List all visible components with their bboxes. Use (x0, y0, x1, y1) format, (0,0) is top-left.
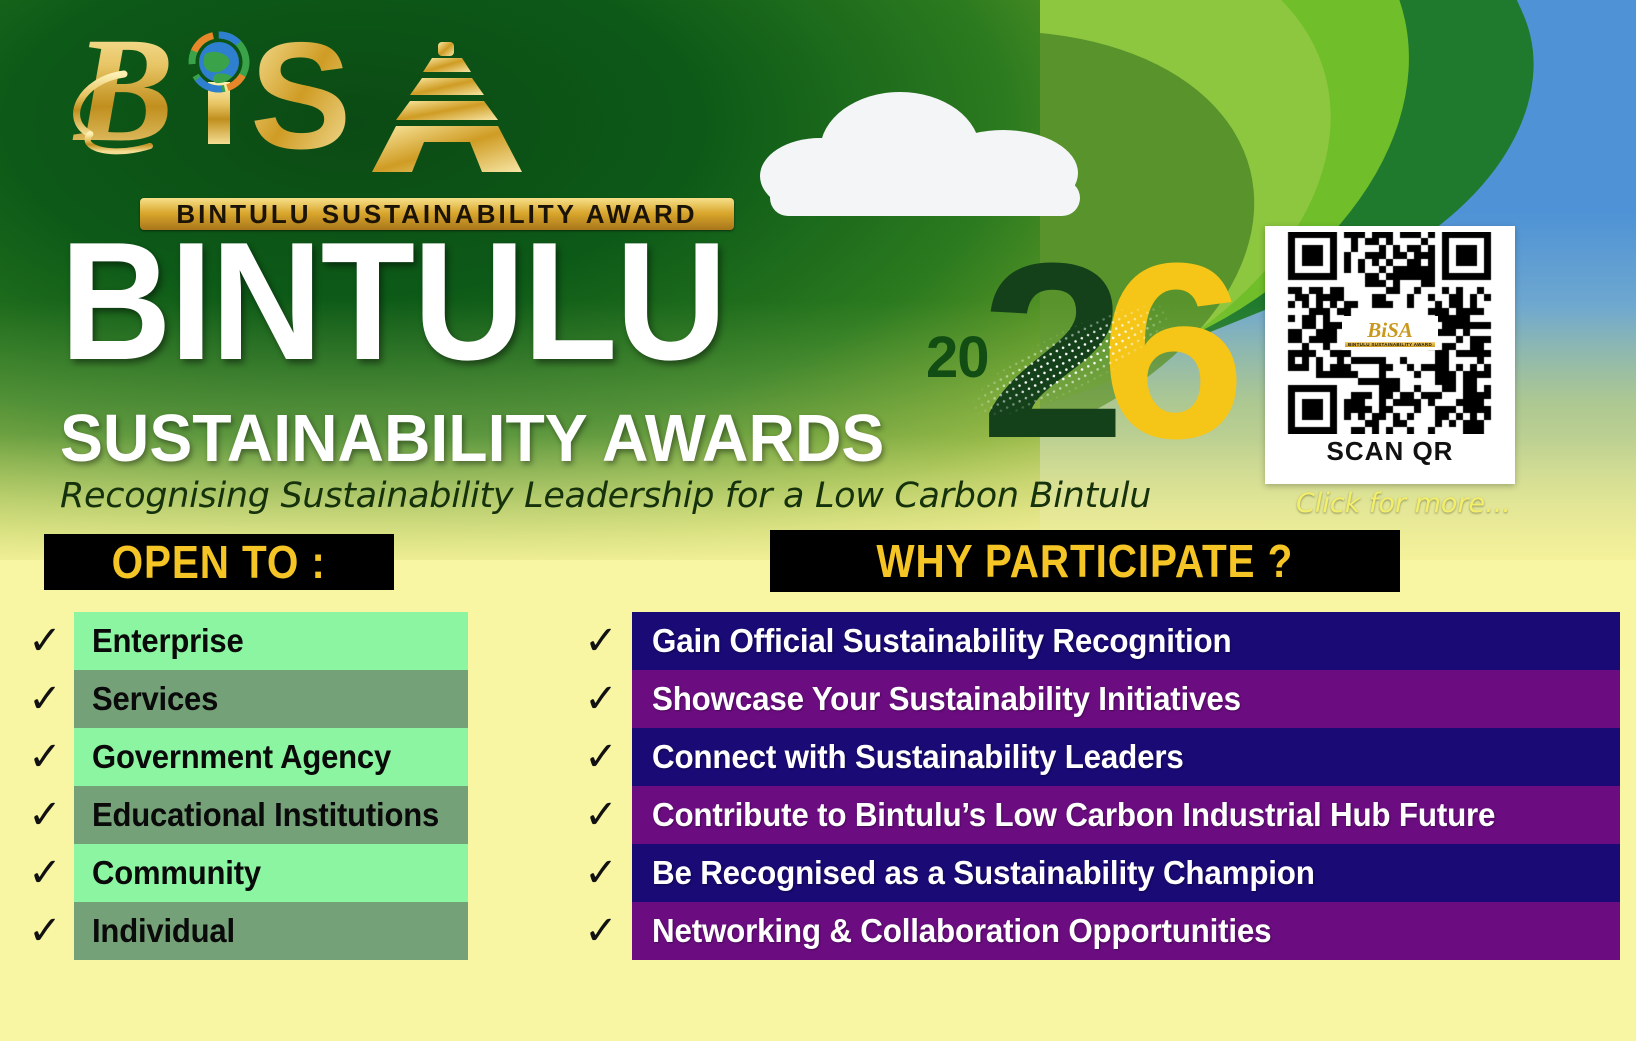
why-participate-list: ✓Gain Official Sustainability Recognitio… (570, 612, 1620, 960)
bisa-logo[interactable]: B S (72, 22, 672, 212)
why-participate-item: Networking & Collaboration Opportunities (632, 902, 1620, 960)
check-icon: ✓ (16, 670, 74, 728)
open-to-row: ✓Educational Institutions (16, 786, 468, 844)
open-to-item: Educational Institutions (74, 786, 468, 844)
open-to-item: Services (74, 670, 468, 728)
open-to-banner: OPEN TO : (44, 534, 394, 590)
why-participate-row: ✓Showcase Your Sustainability Initiative… (570, 670, 1620, 728)
why-participate-item-label: Gain Official Sustainability Recognition (652, 622, 1231, 660)
why-participate-item-label: Showcase Your Sustainability Initiatives (652, 680, 1241, 718)
open-to-item: Community (74, 844, 468, 902)
open-to-row: ✓Government Agency (16, 728, 468, 786)
open-to-item: Enterprise (74, 612, 468, 670)
open-to-row: ✓Community (16, 844, 468, 902)
check-icon: ✓ (16, 728, 74, 786)
page-title: BINTULU (60, 228, 725, 376)
qr-logo-sub: BINTULU SUSTAINABILITY AWARD (1345, 342, 1435, 347)
open-to-item-label: Educational Institutions (92, 796, 439, 834)
why-participate-banner-text: WHY PARTICIPATE ? (877, 534, 1294, 588)
why-participate-row: ✓Be Recognised as a Sustainability Champ… (570, 844, 1620, 902)
check-icon: ✓ (570, 844, 632, 902)
bisa-logo-mark: B S (72, 22, 672, 172)
open-to-row: ✓Enterprise (16, 612, 468, 670)
why-participate-item: Be Recognised as a Sustainability Champi… (632, 844, 1620, 902)
open-to-list: ✓Enterprise✓Services✓Government Agency✓E… (16, 612, 468, 960)
open-to-item-label: Government Agency (92, 738, 391, 776)
why-participate-row: ✓Gain Official Sustainability Recognitio… (570, 612, 1620, 670)
cloud-icon (760, 92, 1090, 210)
open-to-row: ✓Individual (16, 902, 468, 960)
page-subtitle: SUSTAINABILITY AWARDS (60, 400, 884, 477)
why-participate-row: ✓Contribute to Bintulu’s Low Carbon Indu… (570, 786, 1620, 844)
check-icon: ✓ (16, 786, 74, 844)
bintulu-tower-icon (372, 42, 522, 172)
open-to-item-label: Enterprise (92, 622, 244, 660)
qr-code-card[interactable]: BiSA BINTULU SUSTAINABILITY AWARD SCAN Q… (1265, 226, 1515, 484)
check-icon: ✓ (570, 612, 632, 670)
why-participate-item: Contribute to Bintulu’s Low Carbon Indus… (632, 786, 1620, 844)
year-digit-two: 2 (980, 226, 1126, 476)
check-icon: ✓ (570, 670, 632, 728)
svg-text:S: S (250, 22, 351, 172)
why-participate-item-label: Be Recognised as a Sustainability Champi… (652, 854, 1315, 892)
open-to-banner-text: OPEN TO : (112, 535, 326, 589)
qr-logo-mark: BiSA (1367, 320, 1413, 341)
open-to-item-label: Community (92, 854, 261, 892)
why-participate-banner: WHY PARTICIPATE ? (770, 530, 1400, 592)
check-icon: ✓ (16, 844, 74, 902)
check-icon: ✓ (570, 902, 632, 960)
open-to-item-label: Individual (92, 912, 235, 950)
open-to-item-label: Services (92, 680, 218, 718)
year-prefix: 20 (926, 324, 989, 391)
why-participate-row: ✓Connect with Sustainability Leaders (570, 728, 1620, 786)
open-to-item: Government Agency (74, 728, 468, 786)
qr-click-for-more[interactable]: Click for more... (1296, 488, 1511, 519)
poster-root: B S (0, 0, 1636, 1041)
check-icon: ✓ (16, 612, 74, 670)
open-to-row: ✓Services (16, 670, 468, 728)
check-icon: ✓ (16, 902, 74, 960)
why-participate-item: Connect with Sustainability Leaders (632, 728, 1620, 786)
check-icon: ✓ (570, 786, 632, 844)
why-participate-row: ✓Networking & Collaboration Opportunitie… (570, 902, 1620, 960)
year-graphic: 6 2 20 (912, 228, 1222, 498)
check-icon: ✓ (570, 728, 632, 786)
why-participate-item-label: Connect with Sustainability Leaders (652, 738, 1184, 776)
qr-embedded-logo-icon: BiSA BINTULU SUSTAINABILITY AWARD (1342, 316, 1438, 350)
why-participate-item-label: Contribute to Bintulu’s Low Carbon Indus… (652, 796, 1495, 834)
open-to-item: Individual (74, 902, 468, 960)
why-participate-item-label: Networking & Collaboration Opportunities (652, 912, 1271, 950)
why-participate-item: Showcase Your Sustainability Initiatives (632, 670, 1620, 728)
globe-recycle-icon (181, 24, 256, 99)
qr-label: SCAN QR (1327, 436, 1454, 467)
why-participate-item: Gain Official Sustainability Recognition (632, 612, 1620, 670)
qr-code-image[interactable]: BiSA BINTULU SUSTAINABILITY AWARD (1283, 232, 1497, 434)
